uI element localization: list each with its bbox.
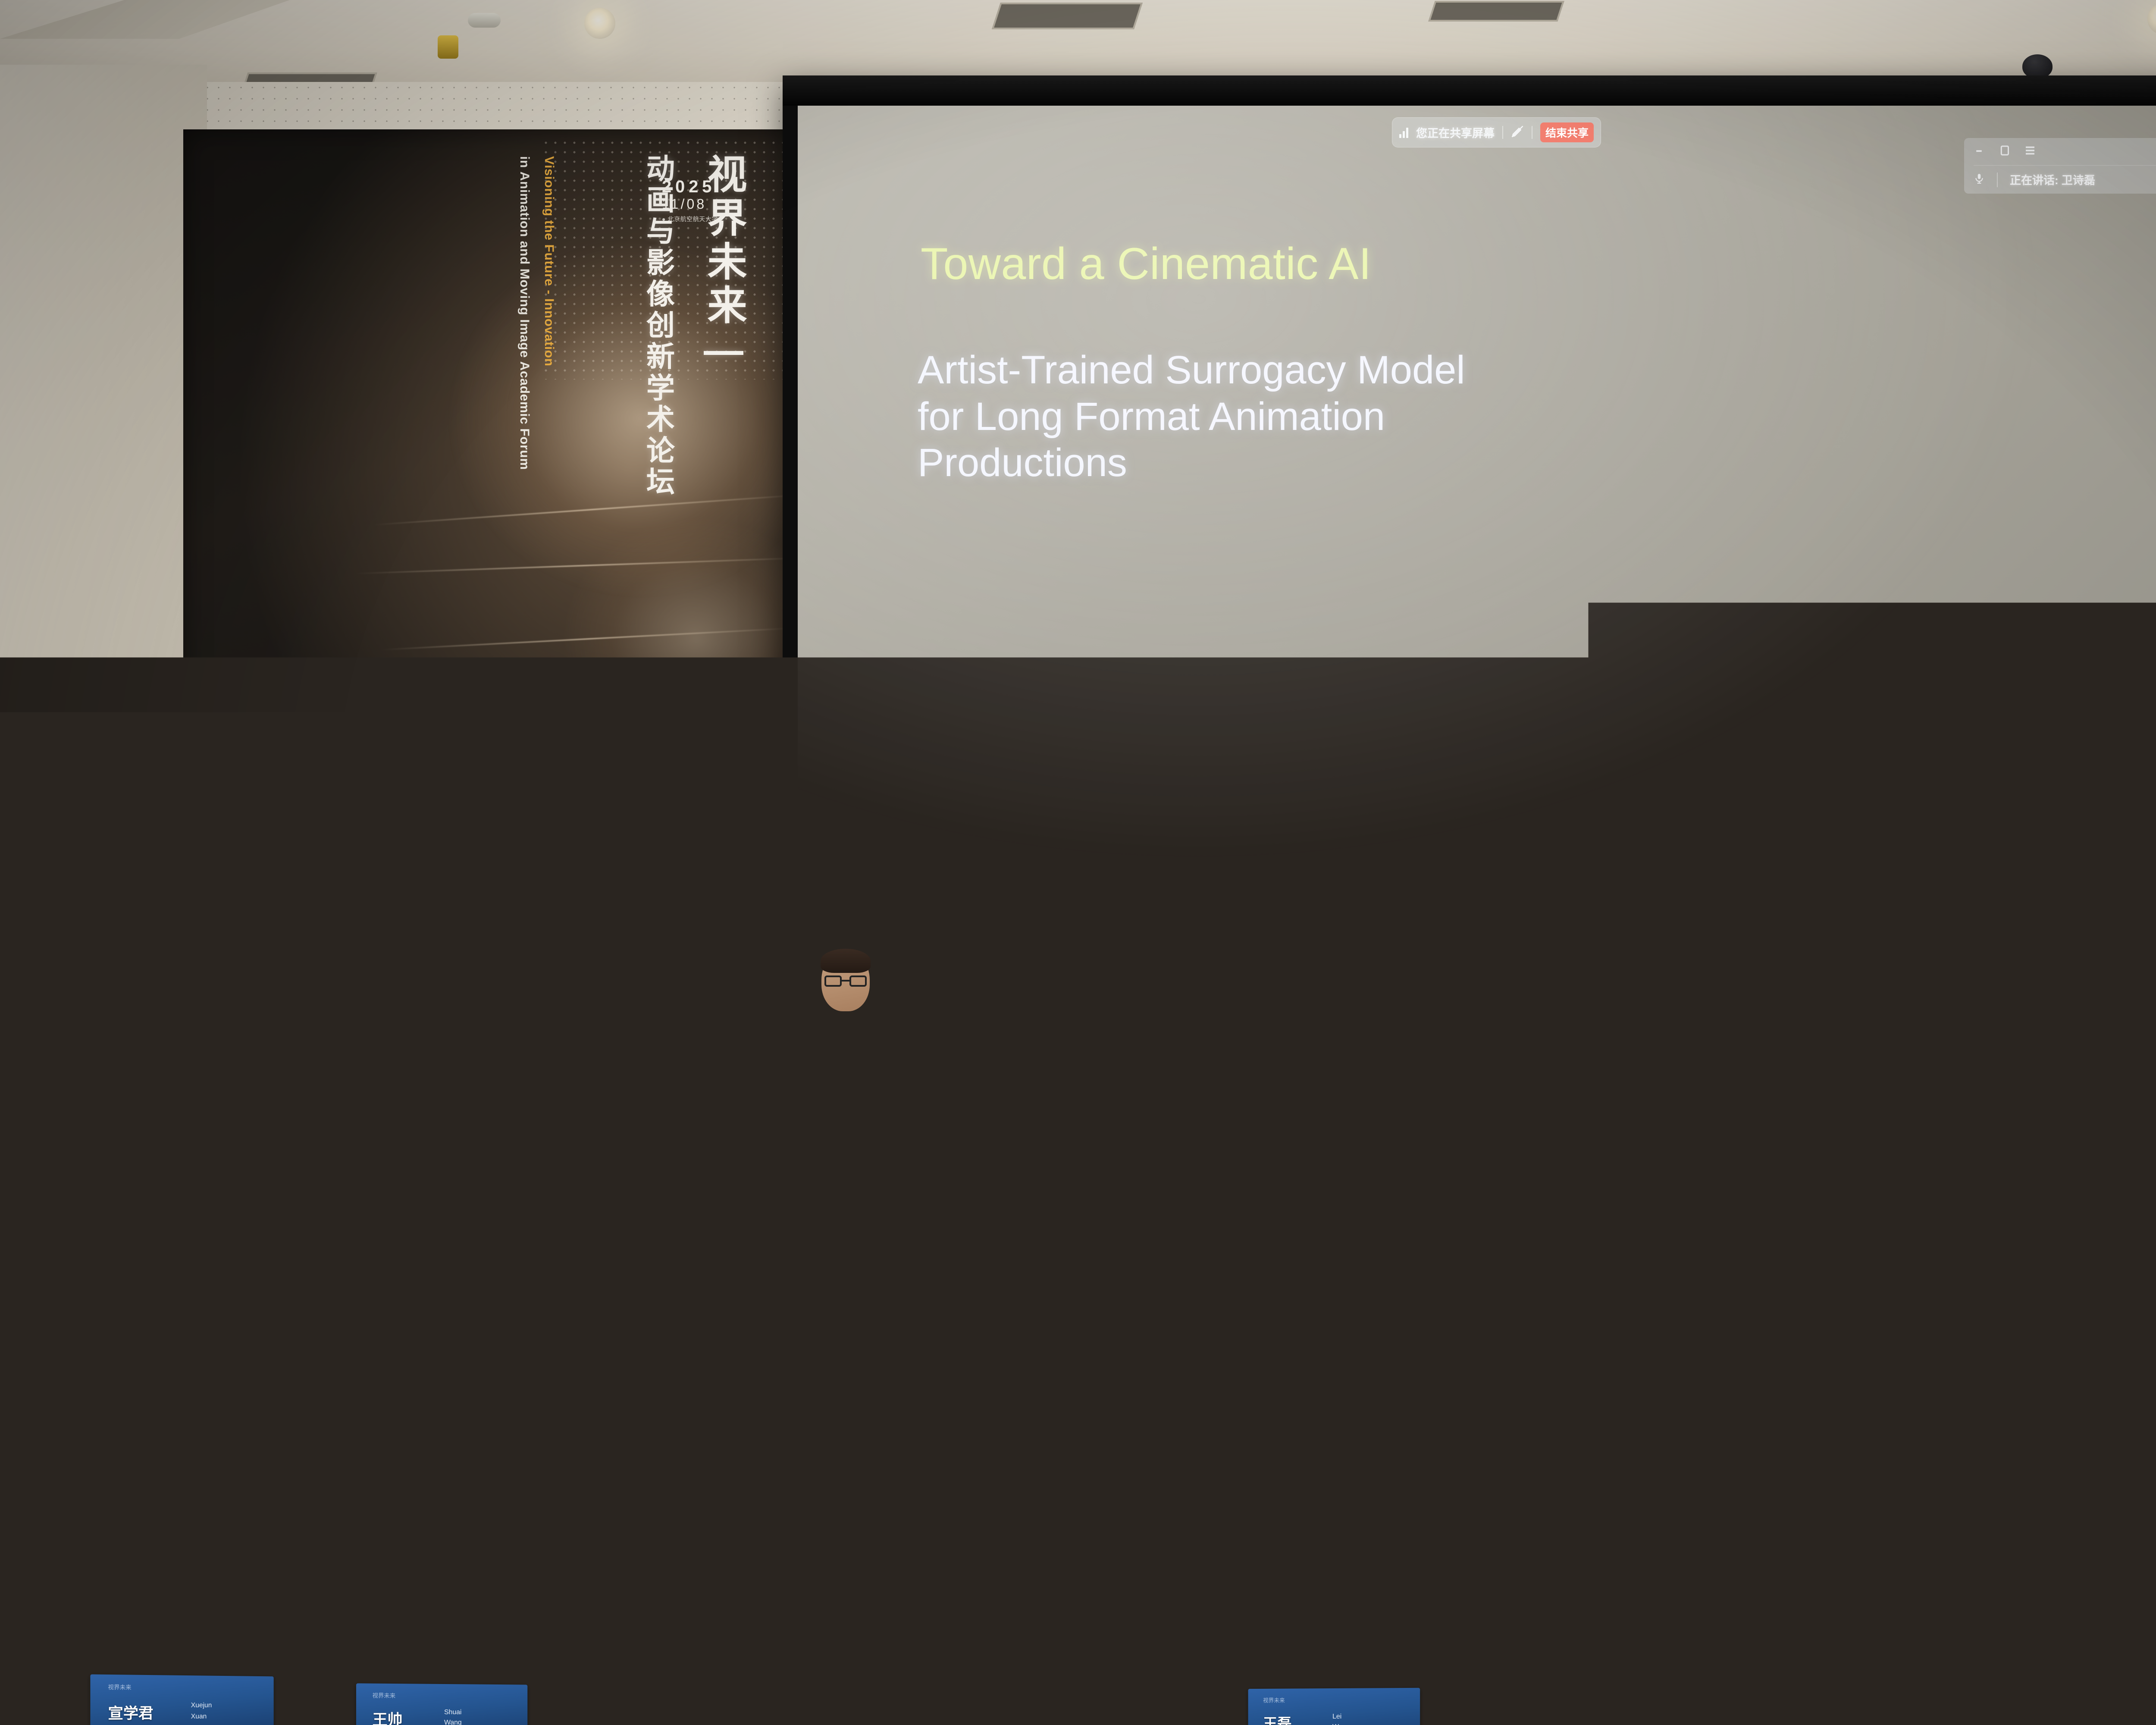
divider bbox=[1532, 126, 1532, 139]
projection-screen-top-bar bbox=[783, 75, 2156, 106]
smiley-icon[interactable] bbox=[830, 820, 844, 837]
audience-nametent: 视界未来 王磊 Lei Wang bbox=[1248, 1688, 1420, 1725]
presenter-hair bbox=[821, 949, 871, 973]
water-bottle bbox=[24, 1576, 45, 1634]
nametent-logo-text: 视界未来 bbox=[108, 1683, 131, 1691]
caption-speaker-name: 卫诗磊 bbox=[1231, 807, 1267, 824]
restore-window-icon[interactable] bbox=[1999, 144, 2012, 159]
smoke-detector-icon bbox=[468, 13, 501, 28]
floor-tape-4 bbox=[1112, 1533, 1169, 1540]
ceiling-downlight-1 bbox=[584, 8, 615, 39]
presenter-badge bbox=[812, 1087, 849, 1113]
monitor-speaker-cone-icon bbox=[63, 1598, 101, 1637]
caption-header: 卫诗磊 卫诗磊 bbox=[1207, 806, 1469, 825]
divider bbox=[1997, 172, 1998, 187]
host-org-en: School of New Media Art and Design, Beih… bbox=[231, 906, 456, 918]
ceiling-vent-2 bbox=[992, 3, 1143, 29]
university-seal-icon bbox=[347, 1087, 416, 1156]
banner-left-year: 2025 bbox=[662, 178, 718, 196]
stage-speaker-box bbox=[321, 1034, 420, 1070]
credit-org-line-1: Hong Kong Polytechnic bbox=[1250, 767, 2137, 797]
nametent-name: 王帅 bbox=[373, 1708, 403, 1725]
audience-nametent: 视界未来 王帅 Shuai Wang bbox=[356, 1683, 527, 1725]
wall-outlet-3 bbox=[1787, 1296, 1818, 1323]
podium-body bbox=[285, 1182, 474, 1501]
banner-left-dotgrid bbox=[541, 138, 817, 379]
comment-input[interactable]: 说点什么... bbox=[830, 820, 903, 837]
phone-viewfinder bbox=[1868, 1640, 1934, 1670]
emergency-light-icon bbox=[438, 35, 458, 59]
floor-reflection-1 bbox=[1755, 1477, 1846, 1488]
credit-name: Dr Hossein Najafi bbox=[1250, 707, 2137, 737]
slide-divider-rule bbox=[895, 671, 2132, 674]
divider bbox=[1502, 126, 1503, 139]
audience-phone[interactable] bbox=[1852, 1628, 1964, 1686]
banner-left-datebox: 2025 11/08 ● 北京航空航天大学 bbox=[662, 178, 718, 223]
hamburger-menu-icon[interactable] bbox=[2024, 144, 2037, 159]
slide-subtitle-line-1: Artist-Trained Surrogacy Model bbox=[918, 347, 1465, 394]
slide-subtitle-line-2: for Long Format Animation bbox=[918, 394, 1465, 440]
audience-nametent: 视界未来 宣学君 Xuejun Xuan bbox=[90, 1674, 273, 1725]
meeting-control-panel[interactable]: 正在讲话: 卫诗磊 bbox=[1964, 138, 2156, 194]
wall-outlet-4 bbox=[1958, 1297, 2012, 1324]
presenter-glasses-icon bbox=[824, 975, 867, 987]
slide-subtitle-line-3: Productions bbox=[918, 440, 1465, 486]
ceiling-vent-3 bbox=[1428, 1, 1564, 22]
screen-share-status-bar[interactable]: 您正在共享屏幕 结束共享 bbox=[1392, 117, 1601, 147]
wall-outlet-5 bbox=[2147, 1297, 2156, 1324]
nametent-name: 王磊 bbox=[1263, 1712, 1291, 1725]
caption-line-en: and they appled by all theses today bbox=[1207, 828, 1469, 846]
host-org-zh-1: 北京航空航天大学 bbox=[231, 875, 456, 891]
window-controls-row bbox=[1974, 144, 2156, 159]
nametent-pinyin-2: Wang bbox=[444, 1719, 462, 1725]
dome-camera-icon bbox=[2022, 54, 2053, 78]
signal-bars-icon bbox=[1399, 127, 1408, 138]
banner-left-tagline-white: in Animation and Moving Image Academic F… bbox=[517, 156, 532, 470]
microphone-icon[interactable] bbox=[1974, 172, 1985, 188]
audience-head bbox=[1621, 1615, 1714, 1712]
water-bottle bbox=[0, 1574, 22, 1634]
credit-role: Associate Professor of Practice bbox=[1250, 737, 2137, 768]
speaking-label: 正在讲话: 卫诗磊 bbox=[2010, 172, 2095, 188]
banner-left-month-day: 11/08 bbox=[662, 196, 718, 212]
banner-left-tagline-gold: Visioning the Future - Innovation bbox=[542, 156, 556, 367]
live-caption: 卫诗磊 卫诗磊 and they appled by all theses to… bbox=[1207, 806, 1469, 869]
nametent-logo-text: 视界未来 bbox=[1263, 1696, 1285, 1704]
nametent-pinyin-1: Xuejun bbox=[191, 1702, 212, 1709]
podium-label: 北航 bbox=[343, 1292, 451, 1326]
banner-left: 视界未来— 动画与影像创新学术论坛 Visioning the Future -… bbox=[183, 129, 821, 975]
nametent-pinyin-1: Lei bbox=[1332, 1713, 1341, 1721]
end-share-button[interactable]: 结束共享 bbox=[1540, 122, 1594, 142]
caption-line-zh: 并且它们被所有这些 bbox=[1207, 847, 1469, 869]
projection-screen bbox=[798, 106, 2156, 985]
host-label: 主办/Host bbox=[231, 862, 456, 875]
audience-hand-left bbox=[1824, 1630, 1858, 1699]
location-pin-icon: ● bbox=[662, 216, 666, 223]
audience-hand-right bbox=[1953, 1629, 1984, 1694]
banner-left-host-block: 主办/Host 北京航空航天大学 新媒体艺术与设计学院 School of Ne… bbox=[231, 862, 456, 918]
wall-outlet-1 bbox=[617, 1294, 648, 1320]
floor-tape-1 bbox=[694, 1527, 759, 1534]
wall-outlet-2 bbox=[1078, 1295, 1109, 1321]
avatar: 卫诗磊 bbox=[1207, 806, 1225, 825]
nametent-pinyin-2: Xuan bbox=[191, 1713, 207, 1721]
floor-tape-2 bbox=[789, 1529, 837, 1536]
nametent-pinyin-1: Shuai bbox=[444, 1709, 461, 1716]
nametent-name: 宣学君 bbox=[108, 1701, 153, 1723]
audience-laptop-1 bbox=[673, 1699, 858, 1725]
floor-tape-3 bbox=[962, 1531, 1022, 1538]
slide-subtitle: Artist-Trained Surrogacy Model for Long … bbox=[918, 347, 1465, 486]
lecture-hall-photo: 视界未来— 动画与影像创新学术论坛 Visioning the Future -… bbox=[0, 0, 2156, 1725]
microphone-icon bbox=[513, 1044, 528, 1055]
nametent-logo-text: 视界未来 bbox=[373, 1691, 396, 1700]
slide-title: Toward a Cinematic AI bbox=[921, 241, 1372, 286]
minimize-icon[interactable] bbox=[1974, 144, 1987, 159]
share-status-text: 您正在共享屏幕 bbox=[1416, 125, 1495, 141]
banner-left-location: ● 北京航空航天大学 bbox=[662, 215, 718, 223]
speaking-status-row: 正在讲话: 卫诗磊 bbox=[1974, 165, 2156, 188]
audience-head bbox=[979, 1639, 1067, 1725]
annotate-pen-icon[interactable] bbox=[1511, 125, 1524, 140]
nametent-pinyin-2: Wang bbox=[1332, 1724, 1350, 1725]
comment-placeholder: 说点什么... bbox=[849, 821, 903, 837]
presenter-hand-left bbox=[793, 1115, 824, 1145]
presenter-hand-right bbox=[868, 1057, 896, 1090]
host-org-zh-2: 新媒体艺术与设计学院 bbox=[231, 891, 456, 906]
